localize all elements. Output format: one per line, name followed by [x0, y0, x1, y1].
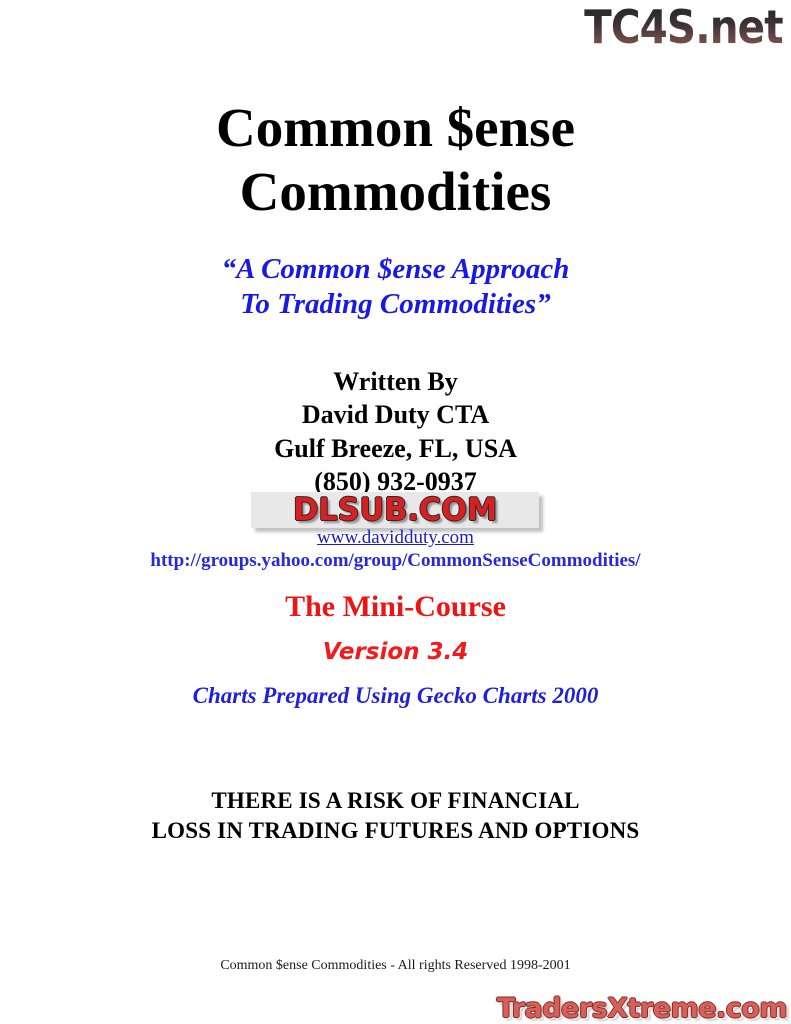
dlsub-watermark: DLSUB.COM: [251, 492, 539, 528]
written-by-label: Written By: [0, 365, 791, 398]
subtitle-line-1: “A Common $ense Approach: [0, 252, 791, 287]
course-name: The Mini-Course: [0, 590, 791, 624]
risk-disclaimer-line-2: LOSS IN TRADING FUTURES AND OPTIONS: [0, 816, 791, 846]
subtitle-line-2: To Trading Commodities”: [0, 287, 791, 322]
title-line-2: Commodities: [0, 160, 791, 224]
yahoo-group-link[interactable]: http://groups.yahoo.com/group/CommonSens…: [0, 550, 791, 572]
page-title: Common $ense Commodities: [0, 96, 791, 224]
website-link[interactable]: www.davidduty.com: [0, 527, 791, 549]
footer-copyright: Common $ense Commodities - All rights Re…: [0, 958, 791, 974]
risk-disclaimer-line-1: THERE IS A RISK OF FINANCIAL: [0, 786, 791, 816]
author-location: Gulf Breeze, FL, USA: [0, 432, 791, 465]
tradersxtreme-watermark: TradersXtreme.com: [497, 995, 787, 1022]
author-name: David Duty CTA: [0, 398, 791, 431]
risk-disclaimer: THERE IS A RISK OF FINANCIAL LOSS IN TRA…: [0, 786, 791, 846]
charts-credit: Charts Prepared Using Gecko Charts 2000: [0, 683, 791, 709]
cover-page: TC4S.net TC4S.net Common $ense Commoditi…: [0, 0, 791, 1024]
author-block: Written By David Duty CTA Gulf Breeze, F…: [0, 365, 791, 498]
page-subtitle: “A Common $ense Approach To Trading Comm…: [0, 252, 791, 323]
title-line-1: Common $ense: [0, 96, 791, 160]
course-version: Version 3.4: [0, 639, 791, 665]
dlsub-watermark-label: DLSUB.COM: [293, 495, 497, 526]
tc4s-watermark: TC4S.net: [584, 4, 783, 50]
